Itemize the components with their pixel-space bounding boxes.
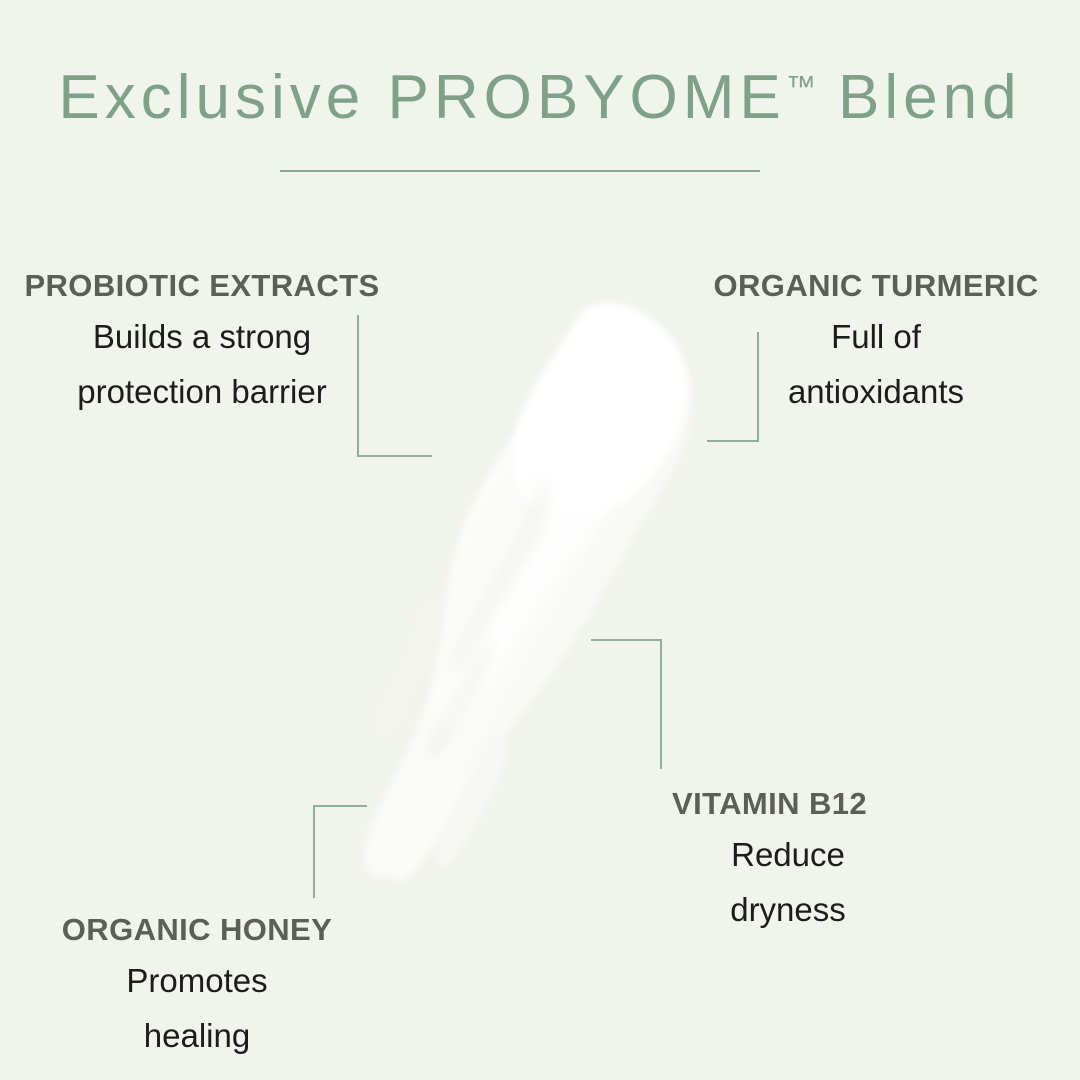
callout-body-line: dryness <box>672 883 904 938</box>
page-title-suffix: Blend <box>838 63 1022 132</box>
callout-vitamin-b12: VITAMIN B12 Reduce dryness <box>672 786 972 938</box>
callout-body-line: Full of <box>686 310 1066 365</box>
callout-body-honey: Promotes healing <box>38 954 356 1064</box>
trademark-symbol: ™ <box>786 70 816 103</box>
callout-heading-turmeric: ORGANIC TURMERIC <box>686 268 1066 304</box>
callout-body-line: protection barrier <box>12 365 392 420</box>
callout-heading-honey: ORGANIC HONEY <box>38 912 356 948</box>
connector-line-vitamin-vertical <box>660 639 662 769</box>
callout-heading-probiotic: PROBIOTIC EXTRACTS <box>12 268 392 304</box>
connector-line-honey-horizontal <box>313 805 367 807</box>
callout-organic-honey: ORGANIC HONEY Promotes healing <box>38 912 356 1064</box>
callout-body-vitamin: Reduce dryness <box>672 828 904 938</box>
connector-line-probiotic-horizontal <box>357 455 432 457</box>
callout-body-probiotic: Builds a strong protection barrier <box>12 310 392 420</box>
callout-heading-vitamin: VITAMIN B12 <box>672 786 972 822</box>
callout-body-line: Reduce <box>672 828 904 883</box>
callout-body-line: healing <box>38 1009 356 1064</box>
infographic-canvas: Exclusive PROBYOME™ Blend <box>0 0 1080 1080</box>
callout-body-line: antioxidants <box>686 365 1066 420</box>
connector-line-honey-vertical <box>313 805 315 898</box>
callout-body-turmeric: Full of antioxidants <box>686 310 1066 420</box>
callout-body-line: Builds a strong <box>12 310 392 365</box>
connector-line-turmeric-horizontal <box>707 440 759 442</box>
page-title-prefix: Exclusive PROBYOME <box>58 63 785 132</box>
callout-body-line: Promotes <box>38 954 356 1009</box>
callout-organic-turmeric: ORGANIC TURMERIC Full of antioxidants <box>686 268 1066 420</box>
callout-probiotic-extracts: PROBIOTIC EXTRACTS Builds a strong prote… <box>12 268 392 420</box>
page-title: Exclusive PROBYOME™ Blend <box>0 62 1080 133</box>
title-divider <box>280 170 760 172</box>
connector-line-vitamin-horizontal <box>591 639 662 641</box>
